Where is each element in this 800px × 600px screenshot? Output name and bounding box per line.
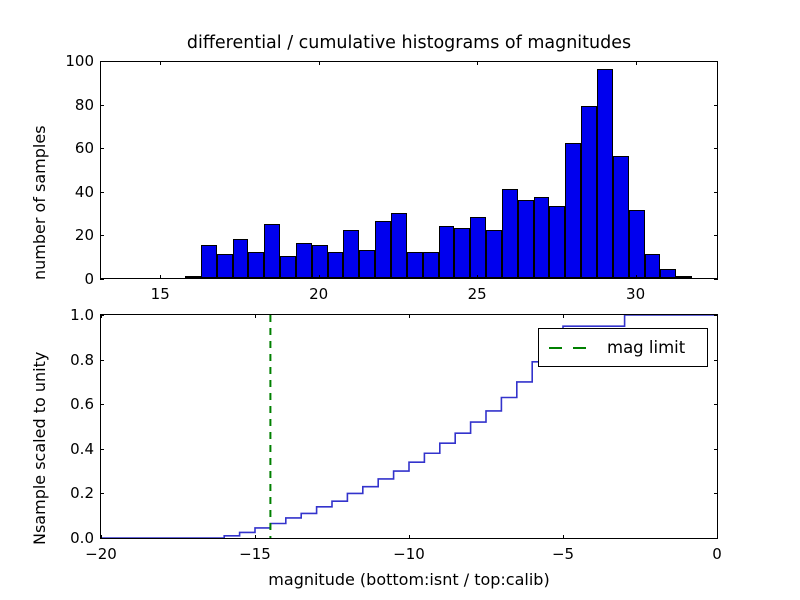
x-tick-label: −10 <box>393 545 425 563</box>
x-tick-mark <box>255 314 256 318</box>
histogram-bar <box>328 252 344 278</box>
figure-xlabel: magnitude (bottom:isnt / top:calib) <box>100 570 718 589</box>
histogram-bar <box>217 254 233 278</box>
y-tick-mark <box>100 235 104 236</box>
y-tick-mark <box>714 235 718 236</box>
histogram-bar <box>407 252 423 278</box>
histogram-bar <box>296 243 312 278</box>
x-tick-label: −15 <box>239 545 271 563</box>
histogram-bar <box>280 256 296 278</box>
x-tick-label: 30 <box>626 285 645 303</box>
histogram-bar <box>233 239 249 278</box>
x-tick-label: 20 <box>309 285 328 303</box>
x-tick-label: −20 <box>85 545 117 563</box>
histogram-bar <box>343 230 359 278</box>
histogram-bar <box>549 206 565 278</box>
differential-histogram-axes <box>100 61 718 279</box>
x-tick-mark <box>319 275 320 279</box>
x-tick-mark <box>636 275 637 279</box>
y-tick-mark <box>714 105 718 106</box>
y-tick-mark <box>100 404 104 405</box>
y-tick-label: 60 <box>48 139 94 157</box>
y-tick-mark <box>714 148 718 149</box>
histogram-bar <box>264 224 280 279</box>
y-tick-mark <box>100 449 104 450</box>
y-tick-label: 0.4 <box>44 440 94 458</box>
y-tick-mark <box>100 493 104 494</box>
histogram-bar <box>185 276 201 278</box>
figure-title: differential / cumulative histograms of … <box>100 33 718 53</box>
histogram-bar <box>454 228 470 278</box>
histogram-bar <box>201 245 217 278</box>
y-tick-label: 40 <box>48 183 94 201</box>
y-tick-mark <box>714 493 718 494</box>
histogram-bar <box>423 252 439 278</box>
y-tick-mark <box>714 192 718 193</box>
x-tick-mark <box>636 61 637 65</box>
x-tick-mark <box>477 61 478 65</box>
x-tick-mark <box>160 61 161 65</box>
histogram-bar <box>629 210 645 278</box>
histogram-bar <box>581 106 597 278</box>
histogram-bar <box>502 189 518 278</box>
histogram-bar <box>645 254 661 278</box>
histogram-bar <box>470 217 486 278</box>
y-tick-mark <box>714 404 718 405</box>
y-tick-label: 0.8 <box>44 351 94 369</box>
x-tick-mark <box>563 314 564 318</box>
y-tick-label: 0.0 <box>44 529 94 547</box>
cumulative-histogram-axes: mag limit <box>100 314 718 539</box>
x-tick-mark <box>160 275 161 279</box>
histogram-bar <box>565 143 581 278</box>
y-tick-label: 20 <box>48 226 94 244</box>
y-tick-label: 0.6 <box>44 395 94 413</box>
histogram-bar <box>518 200 534 278</box>
y-tick-mark <box>100 360 104 361</box>
y-tick-mark <box>100 61 104 62</box>
histogram-bar <box>439 226 455 278</box>
x-tick-label: −5 <box>552 545 574 563</box>
x-tick-label: 0 <box>712 545 722 563</box>
x-tick-mark <box>409 535 410 539</box>
histogram-bar <box>375 221 391 278</box>
legend-item-mag-limit: mag limit <box>607 338 685 357</box>
histogram-bar <box>660 269 676 278</box>
histogram-bar <box>597 69 613 278</box>
y-tick-mark <box>100 538 104 539</box>
y-tick-mark <box>714 61 718 62</box>
histogram-bar <box>359 250 375 278</box>
y-tick-label: 0.2 <box>44 484 94 502</box>
x-tick-label: 15 <box>151 285 170 303</box>
y-tick-mark <box>100 105 104 106</box>
x-tick-mark <box>255 535 256 539</box>
y-tick-mark <box>100 315 104 316</box>
y-tick-label: 100 <box>48 52 94 70</box>
histogram-bar <box>613 156 629 278</box>
x-tick-mark <box>409 314 410 318</box>
histogram-plot-area <box>101 62 717 278</box>
y-tick-mark <box>100 192 104 193</box>
matplotlib-figure: differential / cumulative histograms of … <box>0 0 800 600</box>
y-tick-mark <box>714 360 718 361</box>
x-tick-mark <box>563 535 564 539</box>
y-tick-mark <box>714 315 718 316</box>
y-tick-mark <box>100 148 104 149</box>
legend: mag limit <box>538 328 708 367</box>
y-tick-label: 1.0 <box>44 306 94 324</box>
histogram-bar <box>248 252 264 278</box>
x-tick-label: 25 <box>468 285 487 303</box>
histogram-bar <box>534 197 550 278</box>
y-tick-mark <box>714 279 718 280</box>
histogram-bar <box>486 230 502 278</box>
y-tick-mark <box>100 279 104 280</box>
x-tick-mark <box>319 61 320 65</box>
y-tick-mark <box>714 449 718 450</box>
histogram-bar <box>312 245 328 278</box>
y-tick-mark <box>714 538 718 539</box>
histogram-bar <box>391 213 407 278</box>
y-tick-label: 80 <box>48 96 94 114</box>
x-tick-mark <box>477 275 478 279</box>
y-tick-label: 0 <box>48 270 94 288</box>
mag-limit-legend-swatch <box>549 347 593 349</box>
histogram-bar <box>676 276 692 278</box>
top-panel-ylabel: number of samples <box>30 125 49 280</box>
